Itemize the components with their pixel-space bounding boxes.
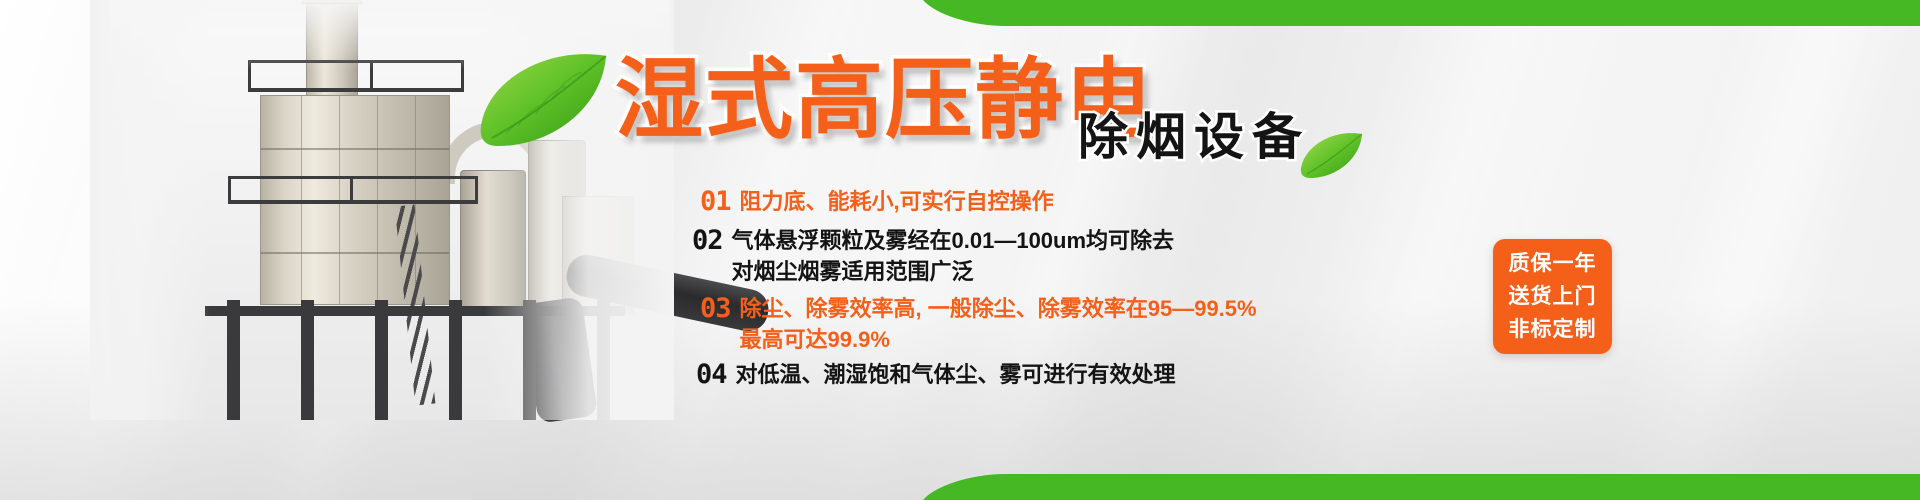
feature-line-1: 气体悬浮颗粒及雾经在0.01—100um均可除去 bbox=[732, 228, 1175, 253]
platform-railing bbox=[350, 176, 353, 204]
feature-text: 对低温、潮湿饱和气体尘、雾可进行有效处理 bbox=[736, 359, 1176, 390]
feature-text: 除尘、除雾效率高, 一般除尘、除雾效率在95—99.5% 最高可达99.9% bbox=[740, 293, 1257, 355]
service-guarantee-badge: 质保一年 送货上门 非标定制 bbox=[1493, 239, 1612, 354]
feature-number: 04 bbox=[696, 359, 727, 390]
feature-line-1: 阻力底、能耗小,可实行自控操作 bbox=[740, 189, 1054, 214]
feature-number: 03 bbox=[700, 293, 731, 324]
feature-text: 阻力底、能耗小,可实行自控操作 bbox=[740, 186, 1054, 217]
platform-railing bbox=[228, 176, 231, 204]
feature-item-04: 04 对低温、潮湿饱和气体尘、雾可进行有效处理 bbox=[696, 359, 1176, 390]
leaf-icon bbox=[478, 52, 610, 148]
feature-line-1: 对低温、潮湿饱和气体尘、雾可进行有效处理 bbox=[736, 362, 1176, 387]
feature-line-2: 对烟尘烟雾适用范围广泛 bbox=[732, 256, 1175, 287]
badge-line-3: 非标定制 bbox=[1509, 313, 1597, 346]
feature-item-02: 02 气体悬浮颗粒及雾经在0.01—100um均可除去 对烟尘烟雾适用范围广泛 bbox=[692, 225, 1174, 287]
badge-line-1: 质保一年 bbox=[1509, 247, 1597, 280]
feature-text: 气体悬浮颗粒及雾经在0.01—100um均可除去 对烟尘烟雾适用范围广泛 bbox=[732, 225, 1175, 287]
feature-item-03: 03 除尘、除雾效率高, 一般除尘、除雾效率在95—99.5% 最高可达99.9… bbox=[700, 293, 1257, 355]
feature-number: 02 bbox=[692, 225, 723, 256]
feature-item-01: 01 阻力底、能耗小,可实行自控操作 bbox=[700, 186, 1054, 217]
green-accent-bottom-right bbox=[980, 474, 1920, 500]
feature-line-2: 最高可达99.9% bbox=[740, 324, 1257, 355]
green-accent-top-right bbox=[980, 0, 1920, 26]
feature-line-1: 除尘、除雾效率高, 一般除尘、除雾效率在95—99.5% bbox=[740, 296, 1257, 321]
feature-number: 01 bbox=[700, 186, 731, 217]
platform-railing bbox=[228, 200, 478, 204]
platform-railing bbox=[228, 176, 478, 179]
page-subtitle: 除烟设备 bbox=[1078, 112, 1310, 162]
badge-line-2: 送货上门 bbox=[1509, 280, 1597, 313]
page-title: 湿式高压静电 bbox=[615, 56, 1155, 144]
platform-railing bbox=[475, 176, 478, 204]
promo-banner: 湿式高压静电 除烟设备 01 阻力底、能耗小,可实行自控操作 02 气体悬浮颗粒… bbox=[0, 0, 1920, 500]
platform-railing bbox=[248, 88, 464, 92]
